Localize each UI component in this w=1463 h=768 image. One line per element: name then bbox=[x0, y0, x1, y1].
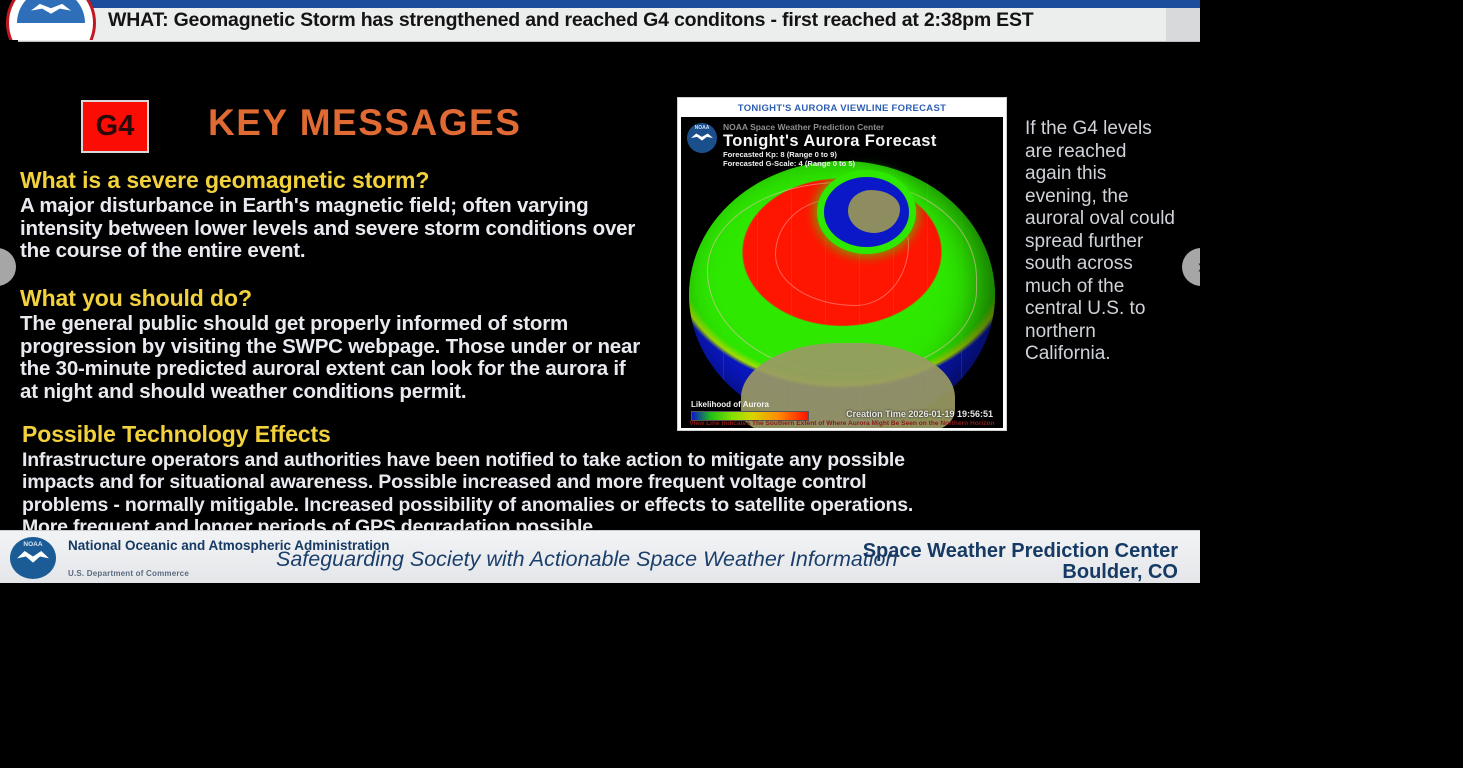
aurora-likelihood-legend: Likelihood of Aurora bbox=[691, 400, 821, 421]
swpc-center-line1: Space Weather Prediction Center bbox=[863, 541, 1178, 562]
noaa-logo-icon: NOAA bbox=[687, 123, 717, 153]
slide-content: G4 KEY MESSAGES What is a severe geomagn… bbox=[0, 42, 1200, 530]
swpc-center-name: Space Weather Prediction Center Boulder,… bbox=[863, 541, 1178, 583]
swpc-center-line2: Boulder, CO bbox=[863, 562, 1178, 583]
noaa-tagline: Safeguarding Society with Actionable Spa… bbox=[276, 547, 897, 572]
alert-banner-accent-strip bbox=[18, 0, 1200, 8]
section-body: Infrastructure operators and authorities… bbox=[22, 449, 952, 538]
g4-badge-label: G4 bbox=[96, 110, 135, 143]
noaa-footer-logo-text: NOAA bbox=[10, 541, 56, 548]
aurora-forecast-panel[interactable]: TONIGHT'S AURORA VIEWLINE FORECAST NOAA bbox=[677, 97, 1007, 431]
aurora-oval-note: If the G4 levels are reached again this … bbox=[1025, 118, 1175, 366]
section-body: The general public should get properly i… bbox=[20, 313, 640, 403]
aurora-viewline-title: TONIGHT'S AURORA VIEWLINE FORECAST bbox=[681, 101, 1003, 117]
slide-footer: NOAA National Oceanic and Atmospheric Ad… bbox=[0, 530, 1200, 583]
forecast-kp-line: Forecasted Kp: 8 (Range 0 to 9) bbox=[723, 150, 855, 159]
carousel-slide-frame: WHAT: Geomagnetic Storm has strengthened… bbox=[0, 0, 1200, 583]
national-weather-service-seal-icon bbox=[6, 0, 96, 40]
forecast-gscale-line: Forecasted G-Scale: 4 (Range 0 to 5) bbox=[723, 159, 855, 168]
section-what-you-should-do: What you should do? The general public s… bbox=[20, 285, 640, 403]
noaa-footer-logo-icon: NOAA bbox=[10, 537, 56, 579]
section-body: A major disturbance in Earth's magnetic … bbox=[20, 195, 640, 263]
noaa-bird-glyph bbox=[691, 132, 713, 143]
section-possible-technology-effects: Possible Technology Effects Infrastructu… bbox=[22, 421, 952, 538]
section-heading: What you should do? bbox=[20, 285, 640, 312]
screen-root: WHAT: Geomagnetic Storm has strengthened… bbox=[0, 0, 1463, 768]
alert-banner: WHAT: Geomagnetic Storm has strengthened… bbox=[18, 0, 1200, 42]
aurora-forecast-image: NOAA NOAA Space Weather Prediction Cente… bbox=[681, 117, 1003, 428]
aurora-agency-label: NOAA Space Weather Prediction Center bbox=[723, 122, 884, 132]
page-title: KEY MESSAGES bbox=[208, 102, 521, 144]
seal-inner-disc bbox=[17, 0, 85, 40]
legend-label: Likelihood of Aurora bbox=[691, 400, 821, 409]
section-heading: What is a severe geomagnetic storm? bbox=[20, 167, 640, 194]
aurora-forecast-indices: Forecasted Kp: 8 (Range 0 to 9) Forecast… bbox=[723, 150, 855, 168]
alert-banner-right-pad bbox=[1166, 8, 1200, 41]
section-severe-geomagnetic-storm: What is a severe geomagnetic storm? A ma… bbox=[20, 167, 640, 263]
noaa-footer-bird-glyph bbox=[17, 549, 49, 566]
noaa-department-label: U.S. Department of Commerce bbox=[68, 569, 189, 578]
g4-storm-level-badge: G4 bbox=[81, 100, 149, 153]
alert-banner-text: WHAT: Geomagnetic Storm has strengthened… bbox=[108, 9, 1034, 32]
noaa-logo-text: NOAA bbox=[687, 125, 717, 131]
aurora-viewline-note: View Line Indicates The Southern Extent … bbox=[689, 420, 995, 427]
aurora-globe-graphic bbox=[689, 161, 995, 428]
aurora-forecast-heading: Tonight's Aurora Forecast bbox=[723, 132, 937, 151]
aurora-creation-time: Creation Time 2026-01-19 19:56:51 bbox=[846, 409, 993, 419]
